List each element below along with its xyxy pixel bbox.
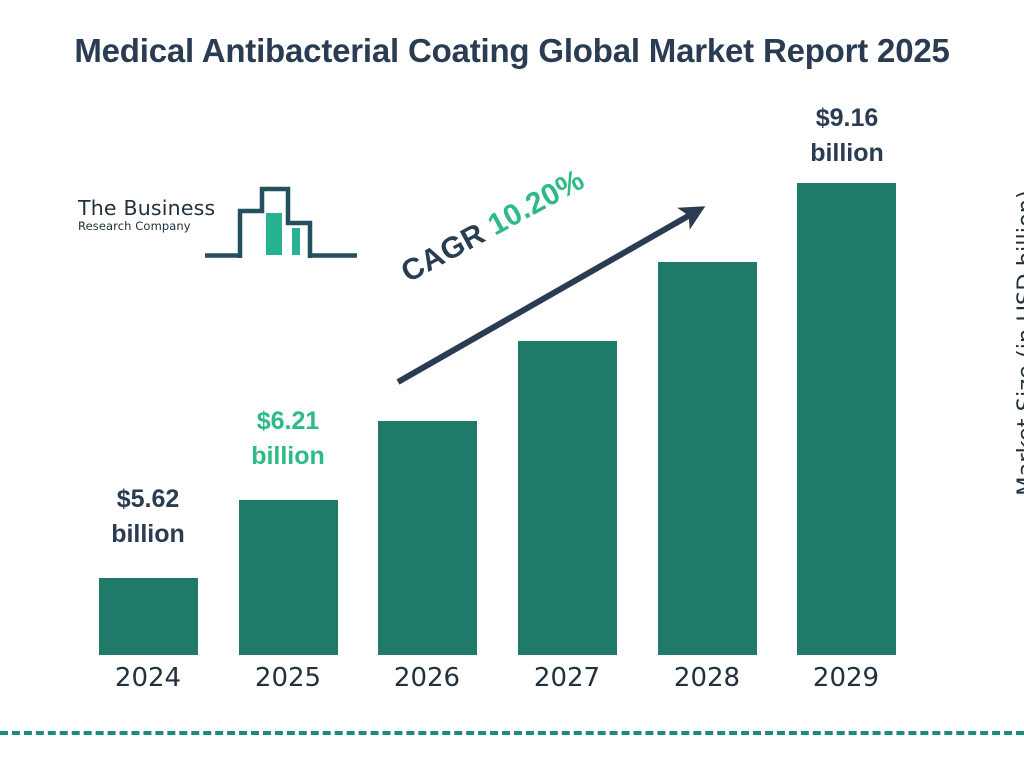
- value-label-2024-unit: billion: [84, 517, 212, 552]
- chart-canvas: Medical Antibacterial Coating Global Mar…: [0, 0, 1024, 768]
- value-label-2025: $6.21 billion: [224, 404, 352, 473]
- value-label-2024-amount: $5.62: [84, 482, 212, 517]
- xtick-2028: 2028: [642, 663, 772, 693]
- bar-2028: [658, 262, 757, 655]
- xtick-2025: 2025: [223, 663, 353, 693]
- footer-divider: [0, 731, 1024, 735]
- bar-2024: [99, 578, 198, 655]
- bar-2026: [378, 421, 477, 655]
- xtick-2024: 2024: [83, 663, 213, 693]
- bar-2027: [518, 341, 617, 655]
- value-label-2029-amount: $9.16: [783, 101, 911, 136]
- value-label-2029-unit: billion: [783, 136, 911, 171]
- value-label-2029: $9.16 billion: [783, 101, 911, 170]
- bar-2029: [797, 183, 896, 655]
- xtick-2029: 2029: [781, 663, 911, 693]
- value-label-2025-unit: billion: [224, 439, 352, 474]
- value-label-2025-amount: $6.21: [224, 404, 352, 439]
- value-label-2024: $5.62 billion: [84, 482, 212, 551]
- y-axis-label: Market Size (in USD billion): [1013, 178, 1024, 508]
- xtick-2027: 2027: [502, 663, 632, 693]
- xtick-2026: 2026: [362, 663, 492, 693]
- bar-2025: [239, 500, 338, 655]
